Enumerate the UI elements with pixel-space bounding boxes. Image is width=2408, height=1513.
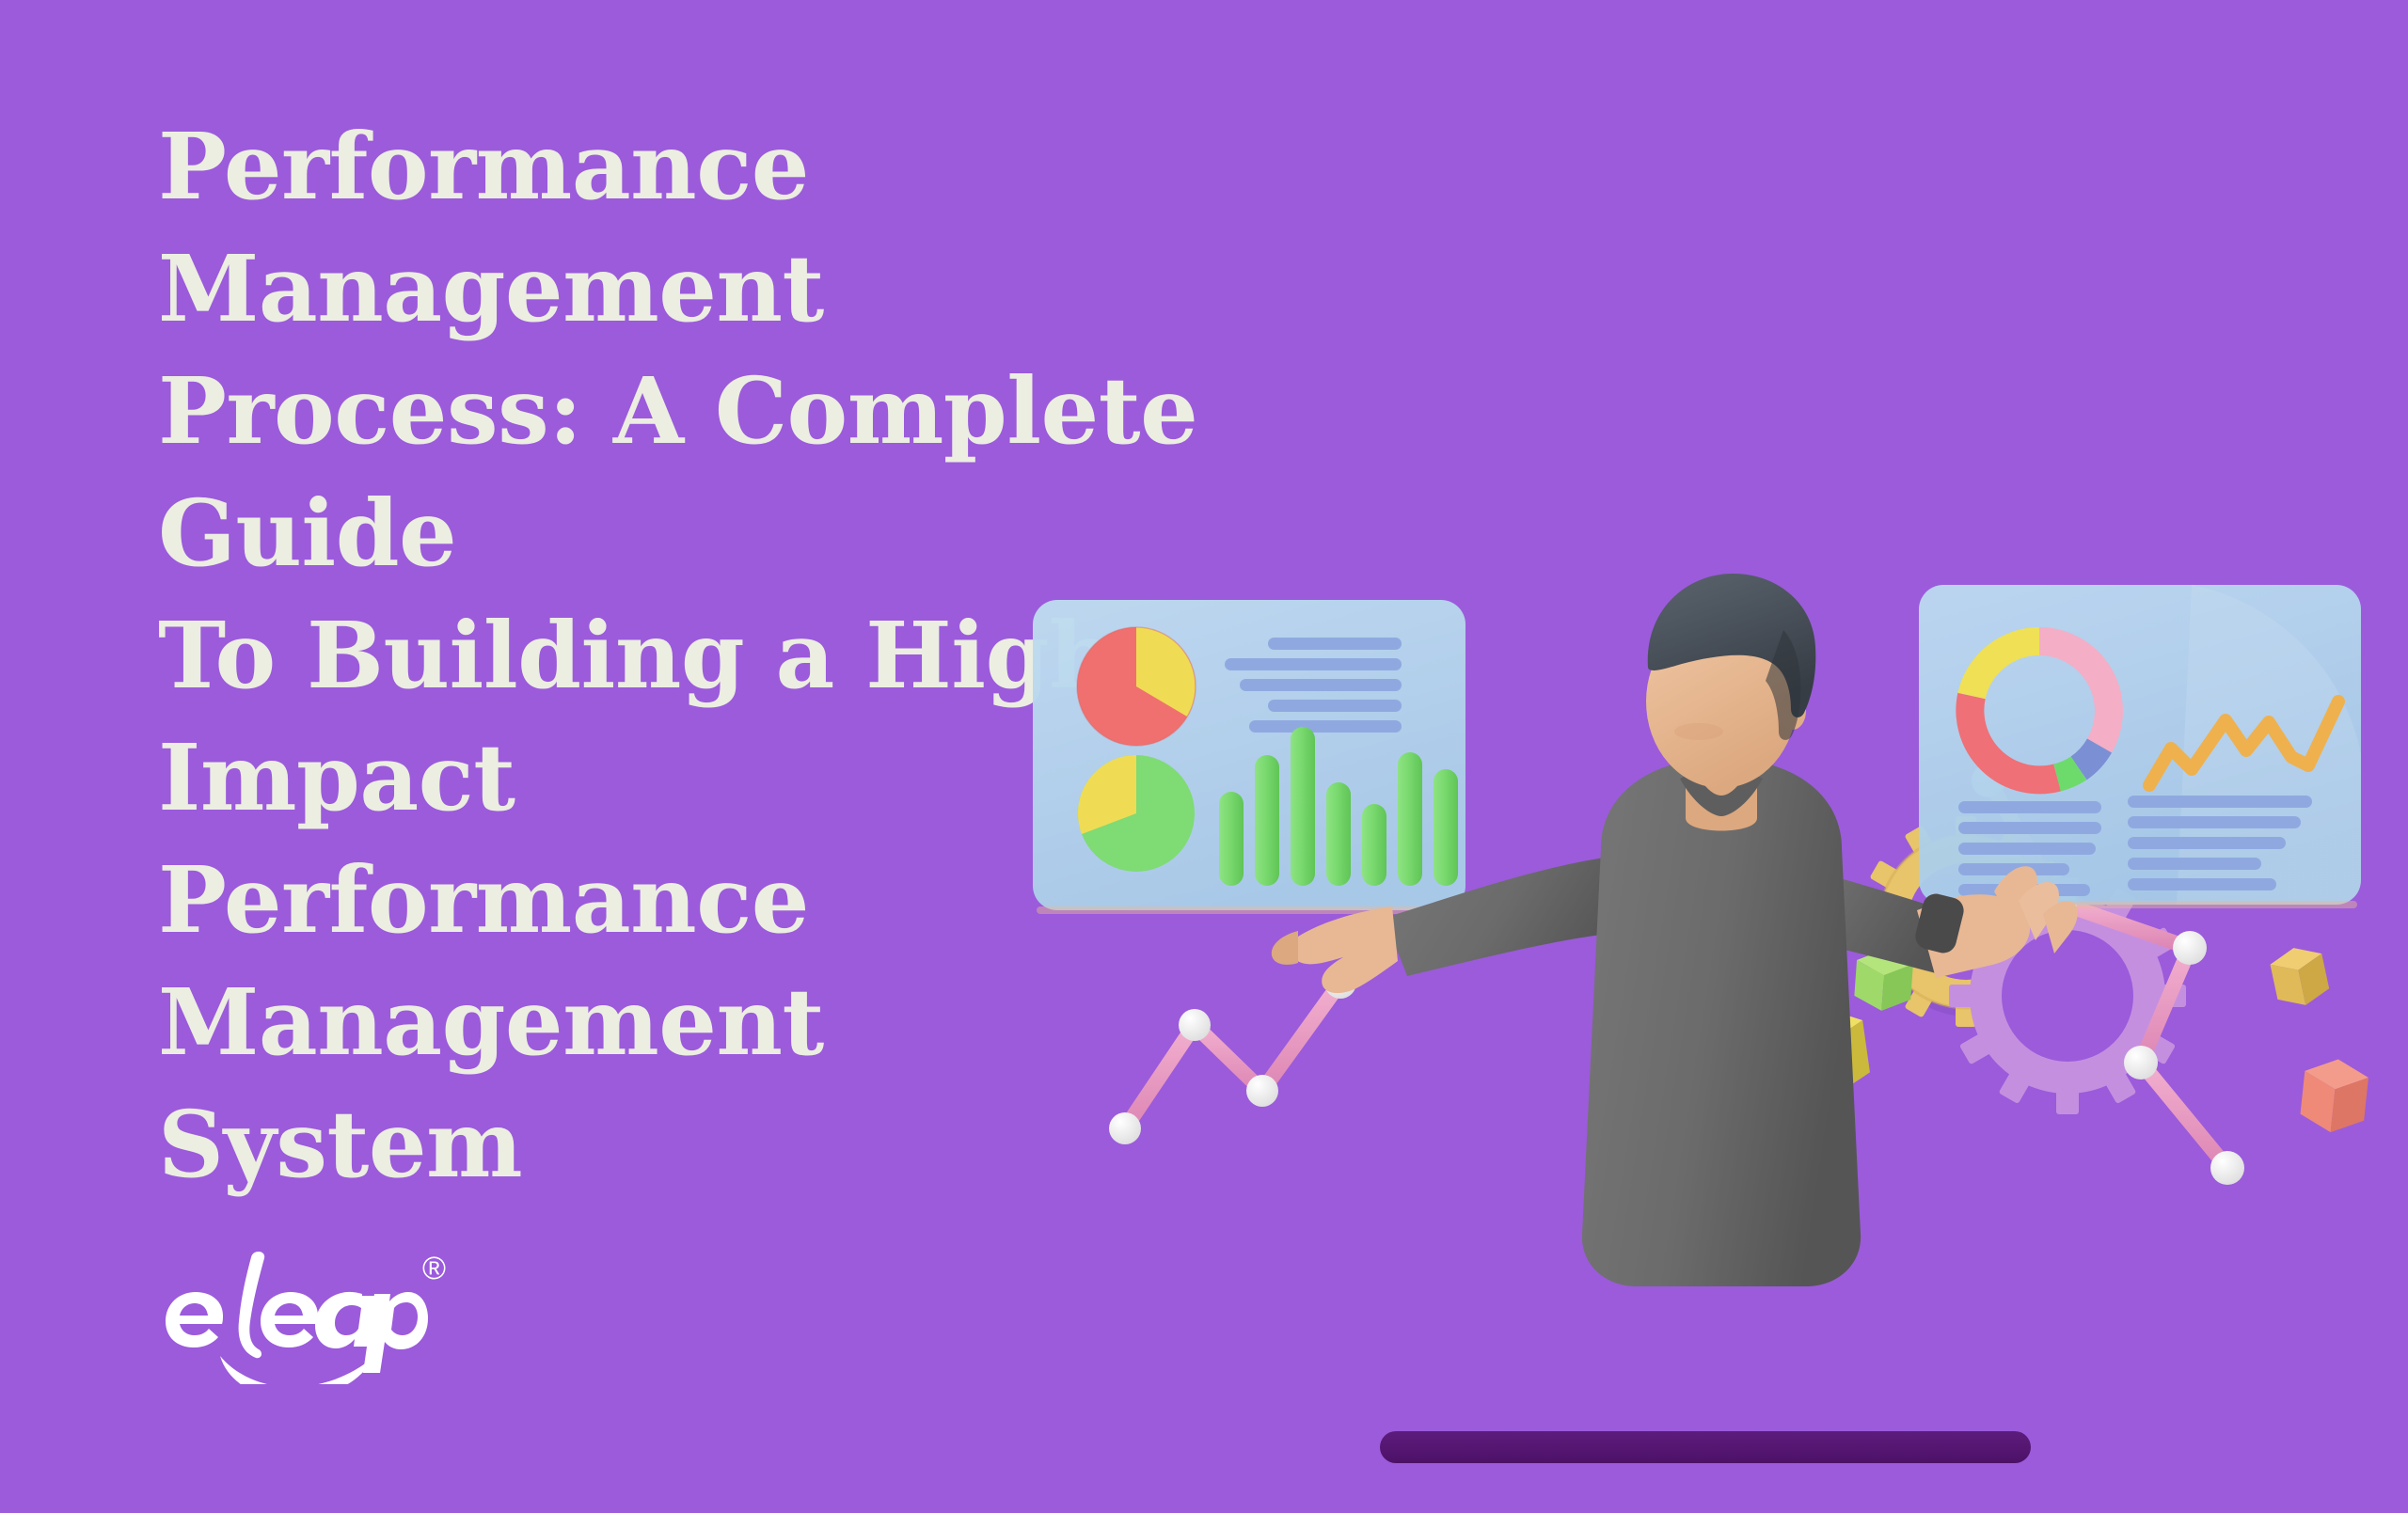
pie-chart-top	[1077, 627, 1196, 746]
right-dashboard-panel	[1919, 585, 2361, 908]
cube-salmon-right-icon	[2299, 1056, 2370, 1136]
analytics-scene-svg	[1016, 527, 2408, 1513]
cube-gold-right-icon	[2268, 942, 2332, 1010]
registered-trademark-icon: ®	[422, 1253, 446, 1284]
hero-illustration	[1016, 527, 2408, 1513]
brand-logo[interactable]: ®	[162, 1243, 482, 1394]
connector-network-left	[1125, 983, 1340, 1128]
character-left-hand	[1272, 906, 1398, 993]
floor-shadow-bar	[1380, 1431, 2031, 1463]
blog-hero-banner: Performance Management Process: A Comple…	[0, 0, 2408, 1513]
left-dashboard-panel	[1033, 600, 1465, 914]
pie-chart-bottom	[1078, 755, 1195, 872]
